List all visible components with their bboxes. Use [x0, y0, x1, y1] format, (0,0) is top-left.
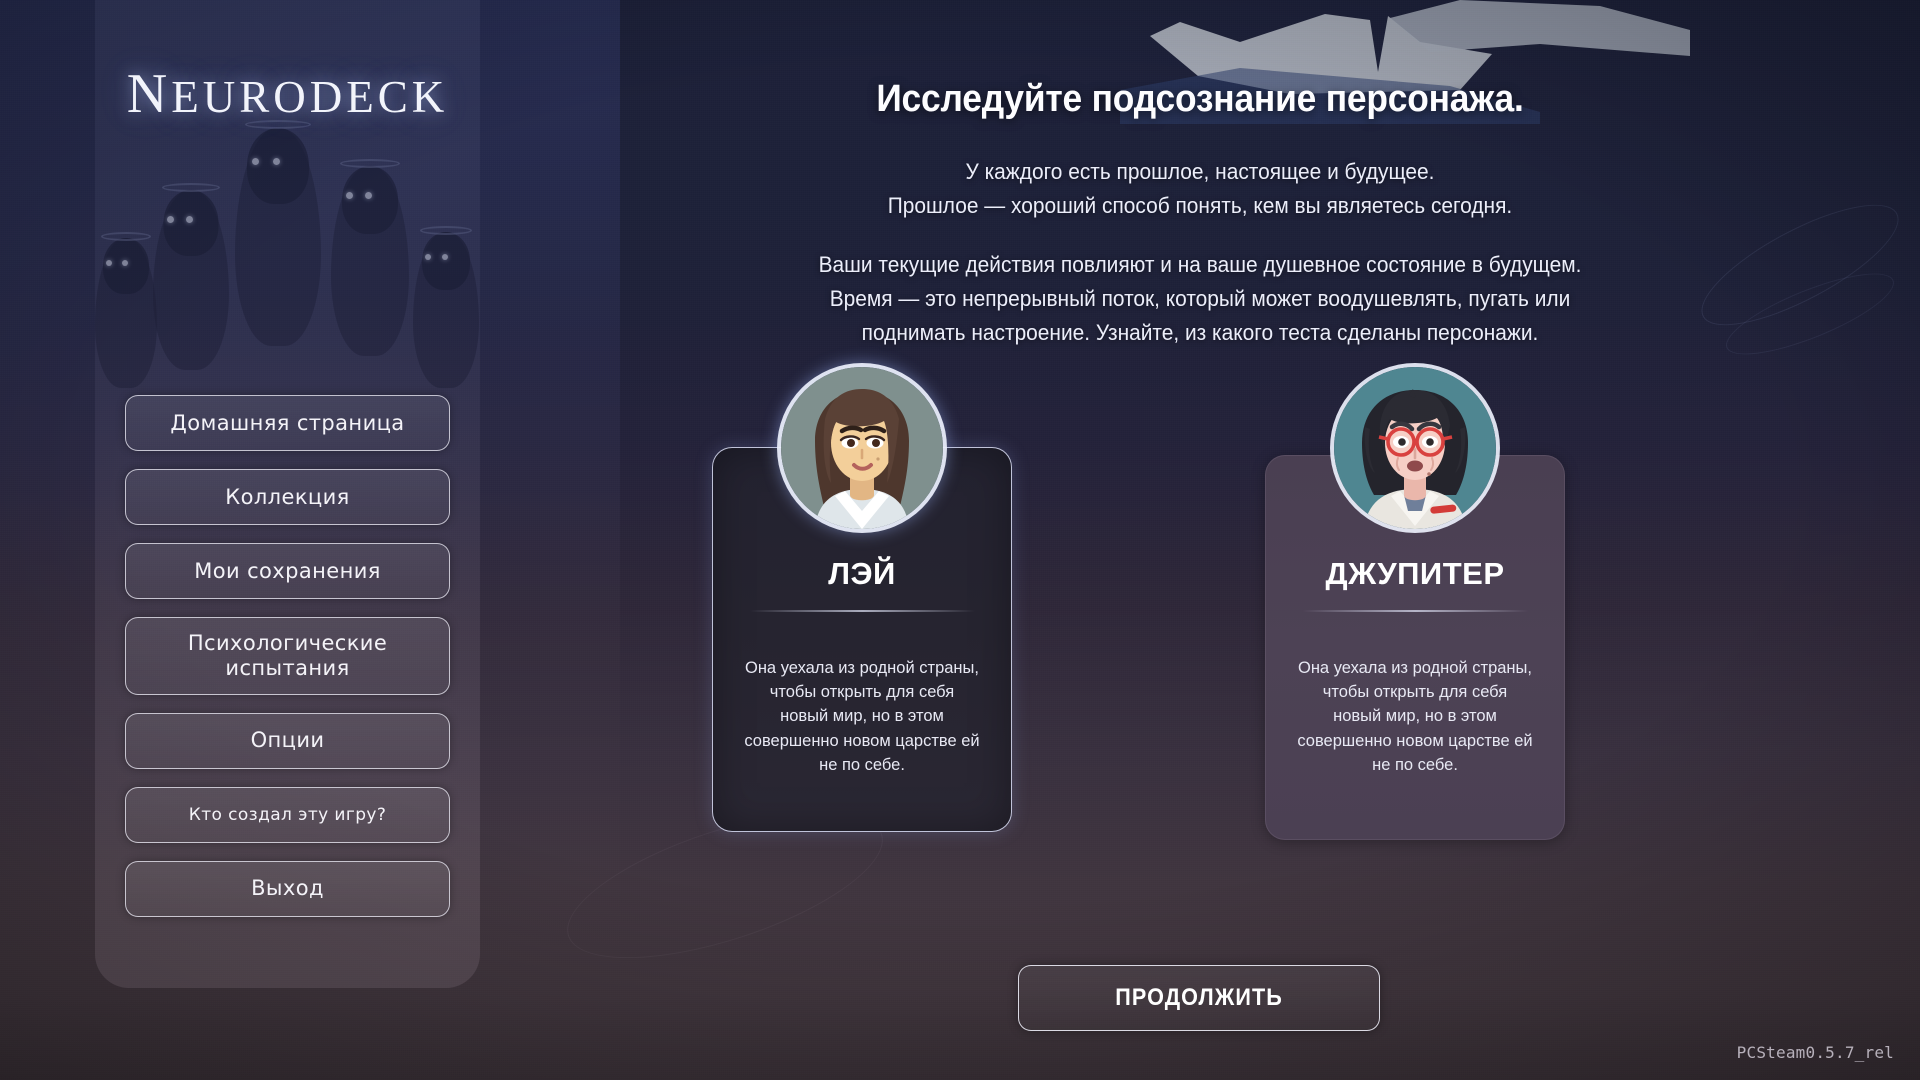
sidebar-item-collection[interactable]: Коллекция	[125, 469, 450, 525]
intro-paragraph-2-line-3: поднимать настроение. Узнайте, из какого…	[516, 316, 1884, 350]
avatar-jupiter	[1334, 367, 1496, 529]
sidebar-item-label: Домашняя страница	[170, 411, 404, 436]
intro-paragraph-2-line-1: Ваши текущие действия повлияют и на ваше…	[516, 248, 1884, 282]
main-content: Исследуйте подсознание персонажа. У кажд…	[480, 0, 1920, 1080]
avatar-lei	[781, 367, 943, 529]
sidebar-item-label: Кто создал эту игру?	[189, 805, 387, 825]
intro-paragraph-1-line-1: У каждого есть прошлое, настоящее и буду…	[516, 155, 1884, 189]
character-name-jupiter: ДЖУПИТЕР	[1266, 556, 1564, 592]
intro-paragraph-1: У каждого есть прошлое, настоящее и буду…	[516, 155, 1884, 223]
sidebar-item-label: Коллекция	[225, 485, 349, 510]
character-card-divider	[1303, 610, 1528, 612]
character-name-lei: ЛЭЙ	[713, 556, 1011, 592]
character-card-jupiter[interactable]: ДЖУПИТЕР Она уехала из родной страны, чт…	[1265, 455, 1565, 840]
character-description-lei: Она уехала из родной страны, чтобы откры…	[744, 656, 980, 778]
sidebar-item-home-page[interactable]: Домашняя страница	[125, 395, 450, 451]
sidebar-item-label: Выход	[251, 876, 324, 901]
shadow-figures-decoration	[95, 110, 480, 370]
app-logo-text: NEURODECK	[127, 72, 448, 122]
sidebar-item-exit[interactable]: Выход	[125, 861, 450, 917]
intro-paragraph-2-line-2: Время — это непрерывный поток, который м…	[516, 282, 1884, 316]
page-title: Исследуйте подсознание персонажа.	[530, 78, 1869, 121]
character-description-jupiter: Она уехала из родной страны, чтобы откры…	[1297, 656, 1533, 778]
sidebar-menu: Домашняя страница Коллекция Мои сохранен…	[125, 395, 450, 917]
sidebar-item-label: Психологические испытания	[138, 631, 437, 681]
character-card-lei[interactable]: ЛЭЙ Она уехала из родной страны, чтобы о…	[712, 447, 1012, 832]
sidebar-item-options[interactable]: Опции	[125, 713, 450, 769]
intro-paragraph-2: Ваши текущие действия повлияют и на ваше…	[516, 248, 1884, 350]
version-label: PCSteam0.5.7_rel	[1737, 1043, 1894, 1062]
sidebar-item-psychological-trials[interactable]: Психологические испытания	[125, 617, 450, 695]
character-card-divider	[750, 610, 975, 612]
continue-button-label: ПРОДОЛЖИТЬ	[1115, 984, 1283, 1012]
app-logo: NEURODECK	[95, 62, 480, 126]
sidebar-panel: NEURODECK Домашняя страница Коллекция Мо…	[95, 0, 480, 988]
intro-paragraph-1-line-2: Прошлое — хороший способ понять, кем вы …	[516, 189, 1884, 223]
sidebar-item-label: Мои сохранения	[194, 559, 381, 584]
sidebar-item-my-saves[interactable]: Мои сохранения	[125, 543, 450, 599]
sidebar-item-credits[interactable]: Кто создал эту игру?	[125, 787, 450, 843]
continue-button[interactable]: ПРОДОЛЖИТЬ	[1018, 965, 1380, 1031]
sidebar-item-label: Опции	[251, 728, 325, 753]
